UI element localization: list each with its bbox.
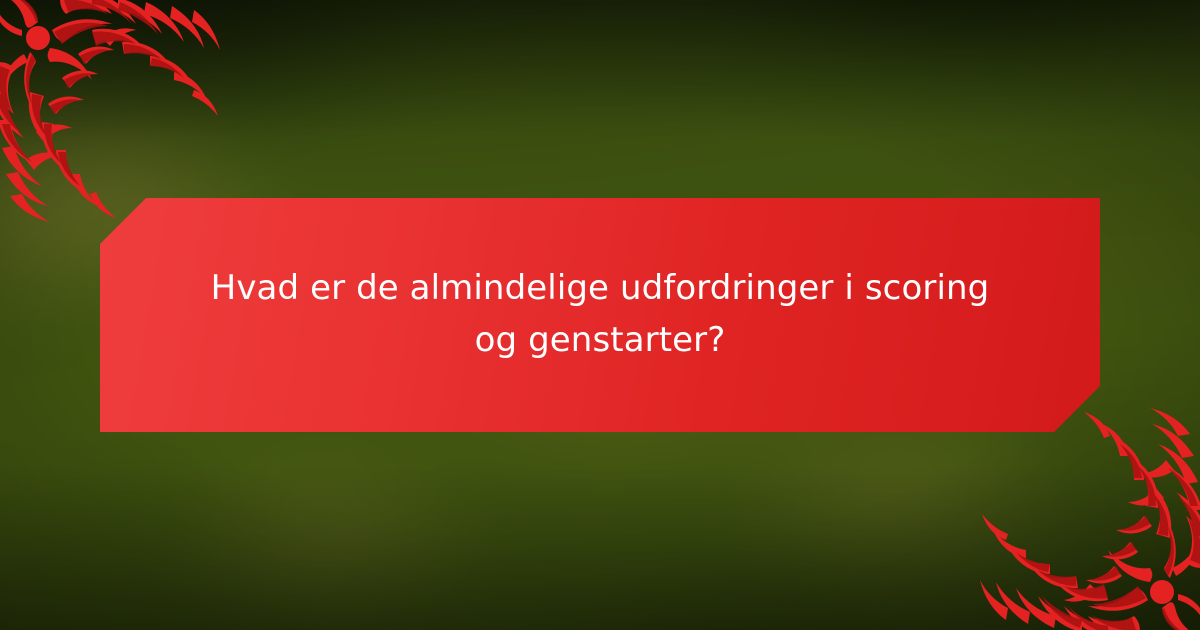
question-banner: Hvad er de almindelige udfordringer i sc… xyxy=(100,198,1100,432)
social-quote-card: Hvad er de almindelige udfordringer i sc… xyxy=(0,0,1200,630)
question-title: Hvad er de almindelige udfordringer i sc… xyxy=(200,263,1000,366)
